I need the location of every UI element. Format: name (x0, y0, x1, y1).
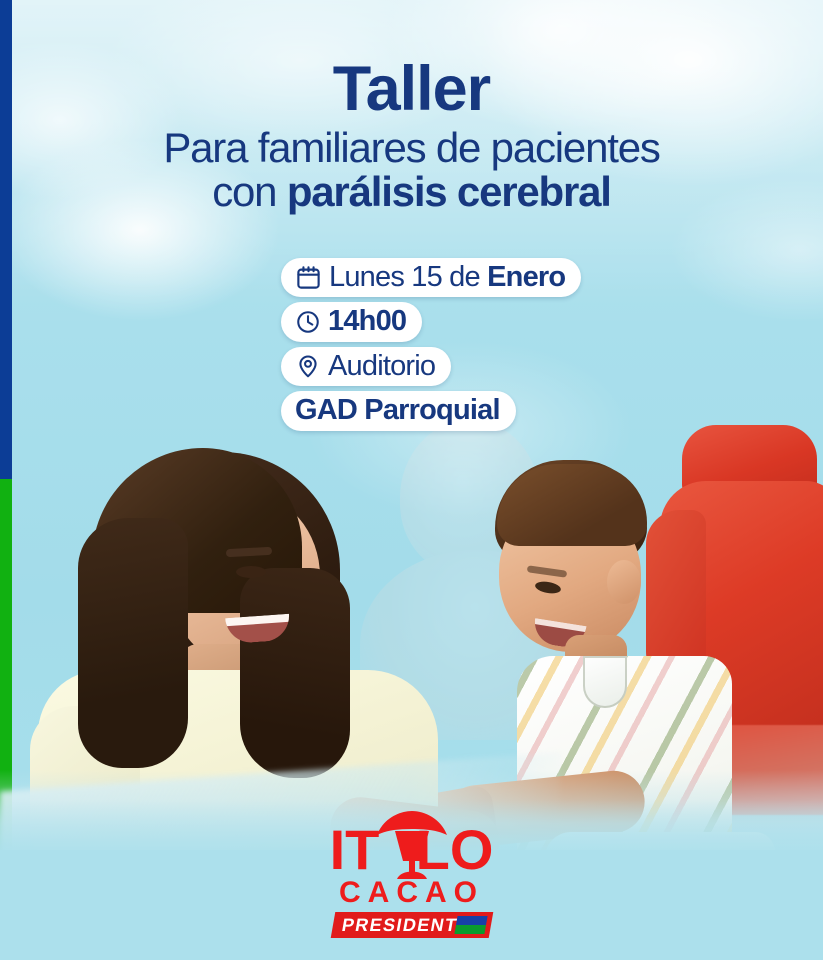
detail-organization-text: GAD Parroquial (295, 395, 500, 425)
detail-date-month: Enero (487, 261, 565, 293)
logo-role-banner: PRESIDENTE (330, 912, 493, 938)
detail-venue-text: Auditorio (328, 351, 435, 381)
detail-date-light: Lunes 15 de (329, 261, 487, 293)
clock-icon (295, 309, 321, 335)
sky-haze (0, 0, 823, 300)
logo-name-row: ITALO (282, 821, 542, 879)
detail-date-badge: Lunes 15 de Enero (281, 258, 581, 297)
event-details-list: Lunes 15 de Enero 14h00 Auditorio GAD Pa… (281, 258, 581, 431)
detail-venue-badge: Auditorio (281, 347, 451, 386)
logo-role-text: PRESIDENTE (330, 912, 473, 938)
detail-organization-badge: GAD Parroquial (281, 391, 516, 430)
flag-icon (454, 916, 487, 934)
hat-figure-icon (369, 809, 455, 881)
detail-time-text: 14h00 (328, 306, 406, 336)
logo-surname: CACAO (282, 877, 542, 909)
detail-time-badge: 14h00 (281, 302, 422, 341)
poster-canvas: Taller Para familiares de pacientes con … (0, 0, 823, 960)
detail-date-text: Lunes 15 de Enero (329, 262, 565, 292)
calendar-icon (295, 264, 322, 291)
location-pin-icon (295, 353, 321, 379)
candidate-logo: ITALO CACAO PRESIDENTE (282, 821, 542, 938)
